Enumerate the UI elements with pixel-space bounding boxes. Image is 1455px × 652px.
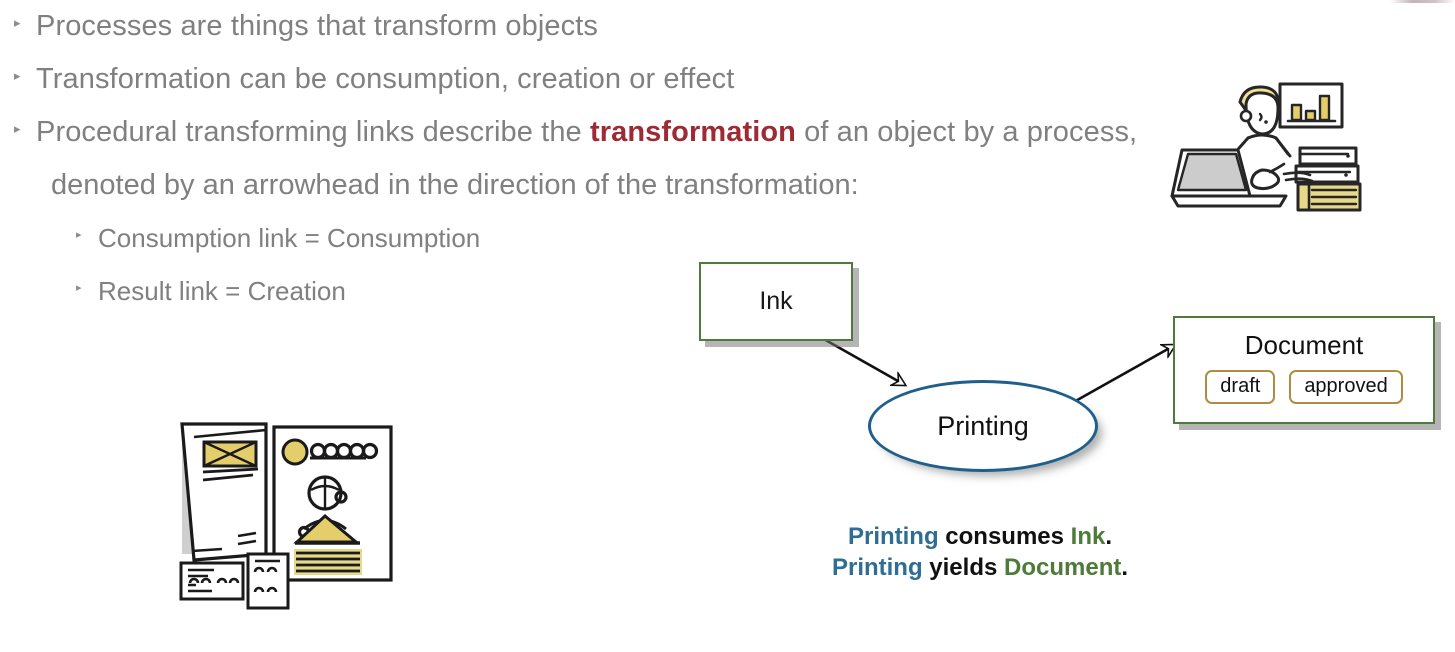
bullet-marker-icon: ▸: [76, 230, 98, 241]
person-at-laptop-illustration: [1170, 78, 1375, 216]
bullet-item-4: ▸ Consumption link = Consumption: [76, 212, 1150, 265]
bullet-marker-icon: ▸: [14, 69, 36, 82]
caption-period: .: [1105, 523, 1112, 550]
process-node-label: Printing: [937, 411, 1029, 442]
highlighted-term: transformation: [590, 116, 796, 148]
slide-canvas: ▸ Processes are things that transform ob…: [0, 0, 1455, 652]
caption-subject: Printing: [848, 523, 939, 550]
caption-subject: Printing: [832, 554, 923, 581]
caption-object: Ink: [1071, 523, 1106, 550]
process-node-printing[interactable]: Printing: [868, 380, 1098, 472]
bullet-item-1: ▸ Processes are things that transform ob…: [14, 0, 1150, 53]
bullet-text: Transformation can be consumption, creat…: [36, 53, 734, 106]
caption-line-2: Printing yields Document.: [700, 552, 1260, 583]
bullet-text: Result link = Creation: [98, 265, 346, 318]
bullet-marker-icon: ▸: [14, 122, 36, 135]
state-list: draft approved: [1175, 370, 1433, 404]
diagram-caption: Printing consumes Ink. Printing yields D…: [700, 521, 1260, 583]
bullet-marker-icon: ▸: [14, 16, 36, 29]
state-approved[interactable]: approved: [1289, 370, 1402, 404]
caption-verb: yields: [923, 554, 1004, 581]
state-draft[interactable]: draft: [1205, 370, 1275, 404]
object-node-document[interactable]: Document draft approved: [1173, 316, 1435, 424]
consumption-link-arrow: [822, 338, 905, 385]
caption-object: Document: [1004, 554, 1121, 581]
bullet-continuation-line: denoted by an arrowhead in the direction…: [51, 159, 1150, 212]
caption-line-1: Printing consumes Ink.: [700, 521, 1260, 552]
caption-period: .: [1121, 554, 1128, 581]
object-node-ink[interactable]: Ink: [699, 262, 853, 341]
bullet-text: Processes are things that transform obje…: [36, 0, 598, 53]
object-node-label: Ink: [759, 287, 792, 316]
printed-documents-illustration: [170, 420, 402, 610]
bullet-item-2: ▸ Transformation can be consumption, cre…: [14, 53, 1150, 106]
top-edge-artifact: [1390, 0, 1455, 3]
bullet-item-3: ▸ Procedural transforming links describe…: [14, 106, 1150, 159]
bullet-item-5: ▸ Result link = Creation: [76, 265, 1150, 318]
bullet-marker-icon: ▸: [76, 283, 98, 294]
bullet-text: Procedural transforming links describe t…: [36, 106, 1137, 159]
caption-verb: consumes: [939, 523, 1071, 550]
bullet-text-after: of an object by a process,: [796, 116, 1137, 148]
result-link-arrow: [1072, 345, 1175, 403]
bullet-text: Consumption link = Consumption: [98, 212, 480, 265]
bullet-list: ▸ Processes are things that transform ob…: [0, 0, 1150, 318]
bullet-text-before: Procedural transforming links describe t…: [36, 116, 590, 148]
object-node-label: Document: [1175, 329, 1433, 361]
